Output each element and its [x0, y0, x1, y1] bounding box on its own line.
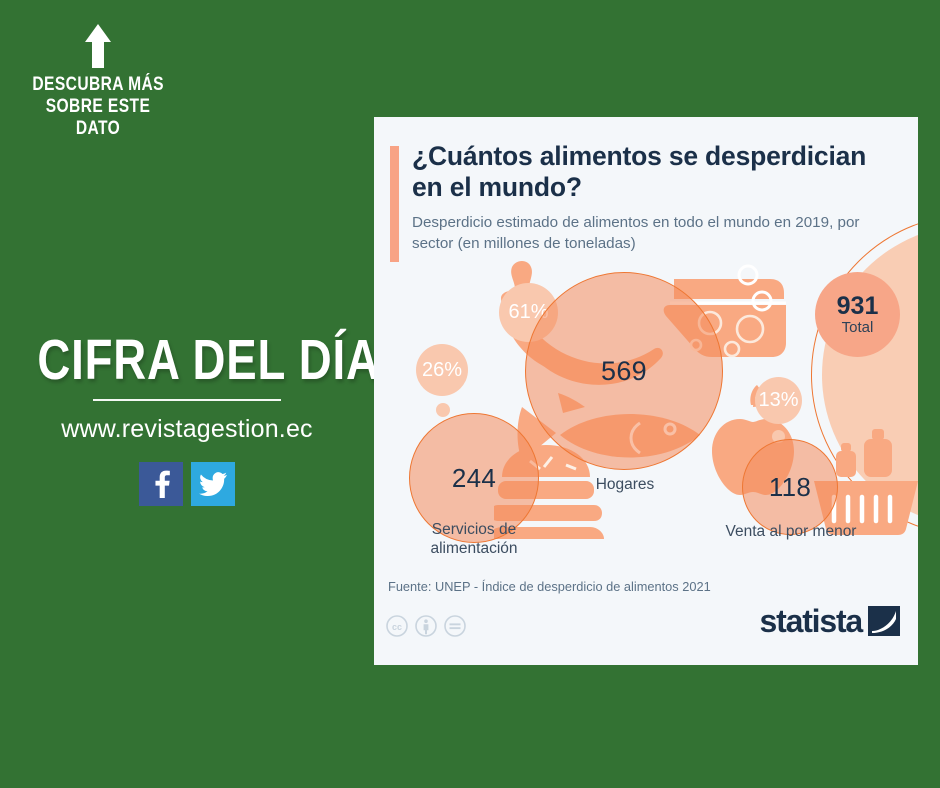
statista-wordmark: statista — [760, 605, 862, 637]
statista-mark-icon — [868, 606, 900, 636]
twitter-button[interactable] — [191, 462, 235, 506]
brand-title: CIFRA DEL DÍA — [37, 330, 336, 390]
statista-logo: statista — [760, 605, 900, 637]
attribution-icon — [415, 615, 437, 637]
bubble-hogares[interactable]: 569 — [525, 272, 723, 470]
infographic-card: ¿Cuántos alimentos se desperdician en el… — [374, 117, 918, 665]
creative-commons-icons: cc — [386, 615, 466, 637]
left-branding-panel: DESCUBRA MÁS SOBRE ESTE DATO CIFRA DEL D… — [0, 0, 374, 788]
total-caption: Total — [842, 319, 874, 336]
bubble-venta[interactable]: 118 — [742, 439, 838, 535]
bubble-label-hogares: Hogares — [515, 475, 735, 494]
source-text: Fuente: UNEP - Índice de desperdicio de … — [388, 579, 711, 594]
bubble-label-venta: Venta al por menor — [724, 522, 858, 541]
svg-text:cc: cc — [392, 622, 402, 632]
percent-value-venta: 13% — [758, 389, 798, 412]
chart-subtitle: Desperdicio estimado de alimentos en tod… — [412, 212, 882, 254]
percent-bubble-servicios: 26% — [416, 344, 468, 396]
facebook-icon — [148, 470, 174, 498]
discover-line-3: DATO — [32, 118, 163, 140]
discover-line-2: SOBRE ESTE — [32, 96, 163, 118]
percent-value-servicios: 26% — [422, 359, 462, 382]
no-derivatives-icon — [444, 615, 466, 637]
connector-dot-servicios — [436, 403, 450, 417]
discover-more-block: DESCUBRA MÁS SOBRE ESTE DATO — [18, 22, 178, 140]
title-accent-bar — [390, 146, 399, 262]
brand-url: www.revistagestion.ec — [0, 415, 374, 444]
bubble-value-venta: 118 — [769, 472, 811, 503]
arrow-up-icon — [83, 22, 113, 68]
facebook-button[interactable] — [139, 462, 183, 506]
total-value: 931 — [837, 293, 879, 319]
cc-icon: cc — [386, 615, 408, 637]
bubble-label-servicios: Servicios de alimentación — [394, 520, 554, 558]
social-row — [0, 462, 374, 506]
brand-divider — [93, 399, 281, 401]
bubble-total[interactable]: 931 Total — [815, 272, 900, 357]
discover-line-1: DESCUBRA MÁS — [32, 74, 163, 96]
bubble-value-hogares: 569 — [601, 356, 647, 387]
twitter-icon — [199, 472, 227, 496]
bubble-value-servicios: 244 — [452, 463, 496, 494]
percent-bubble-venta: 13% — [755, 377, 802, 424]
brand-block: CIFRA DEL DÍA www.revistagestion.ec — [0, 330, 374, 506]
chart-title: ¿Cuántos alimentos se desperdician en el… — [412, 141, 882, 203]
